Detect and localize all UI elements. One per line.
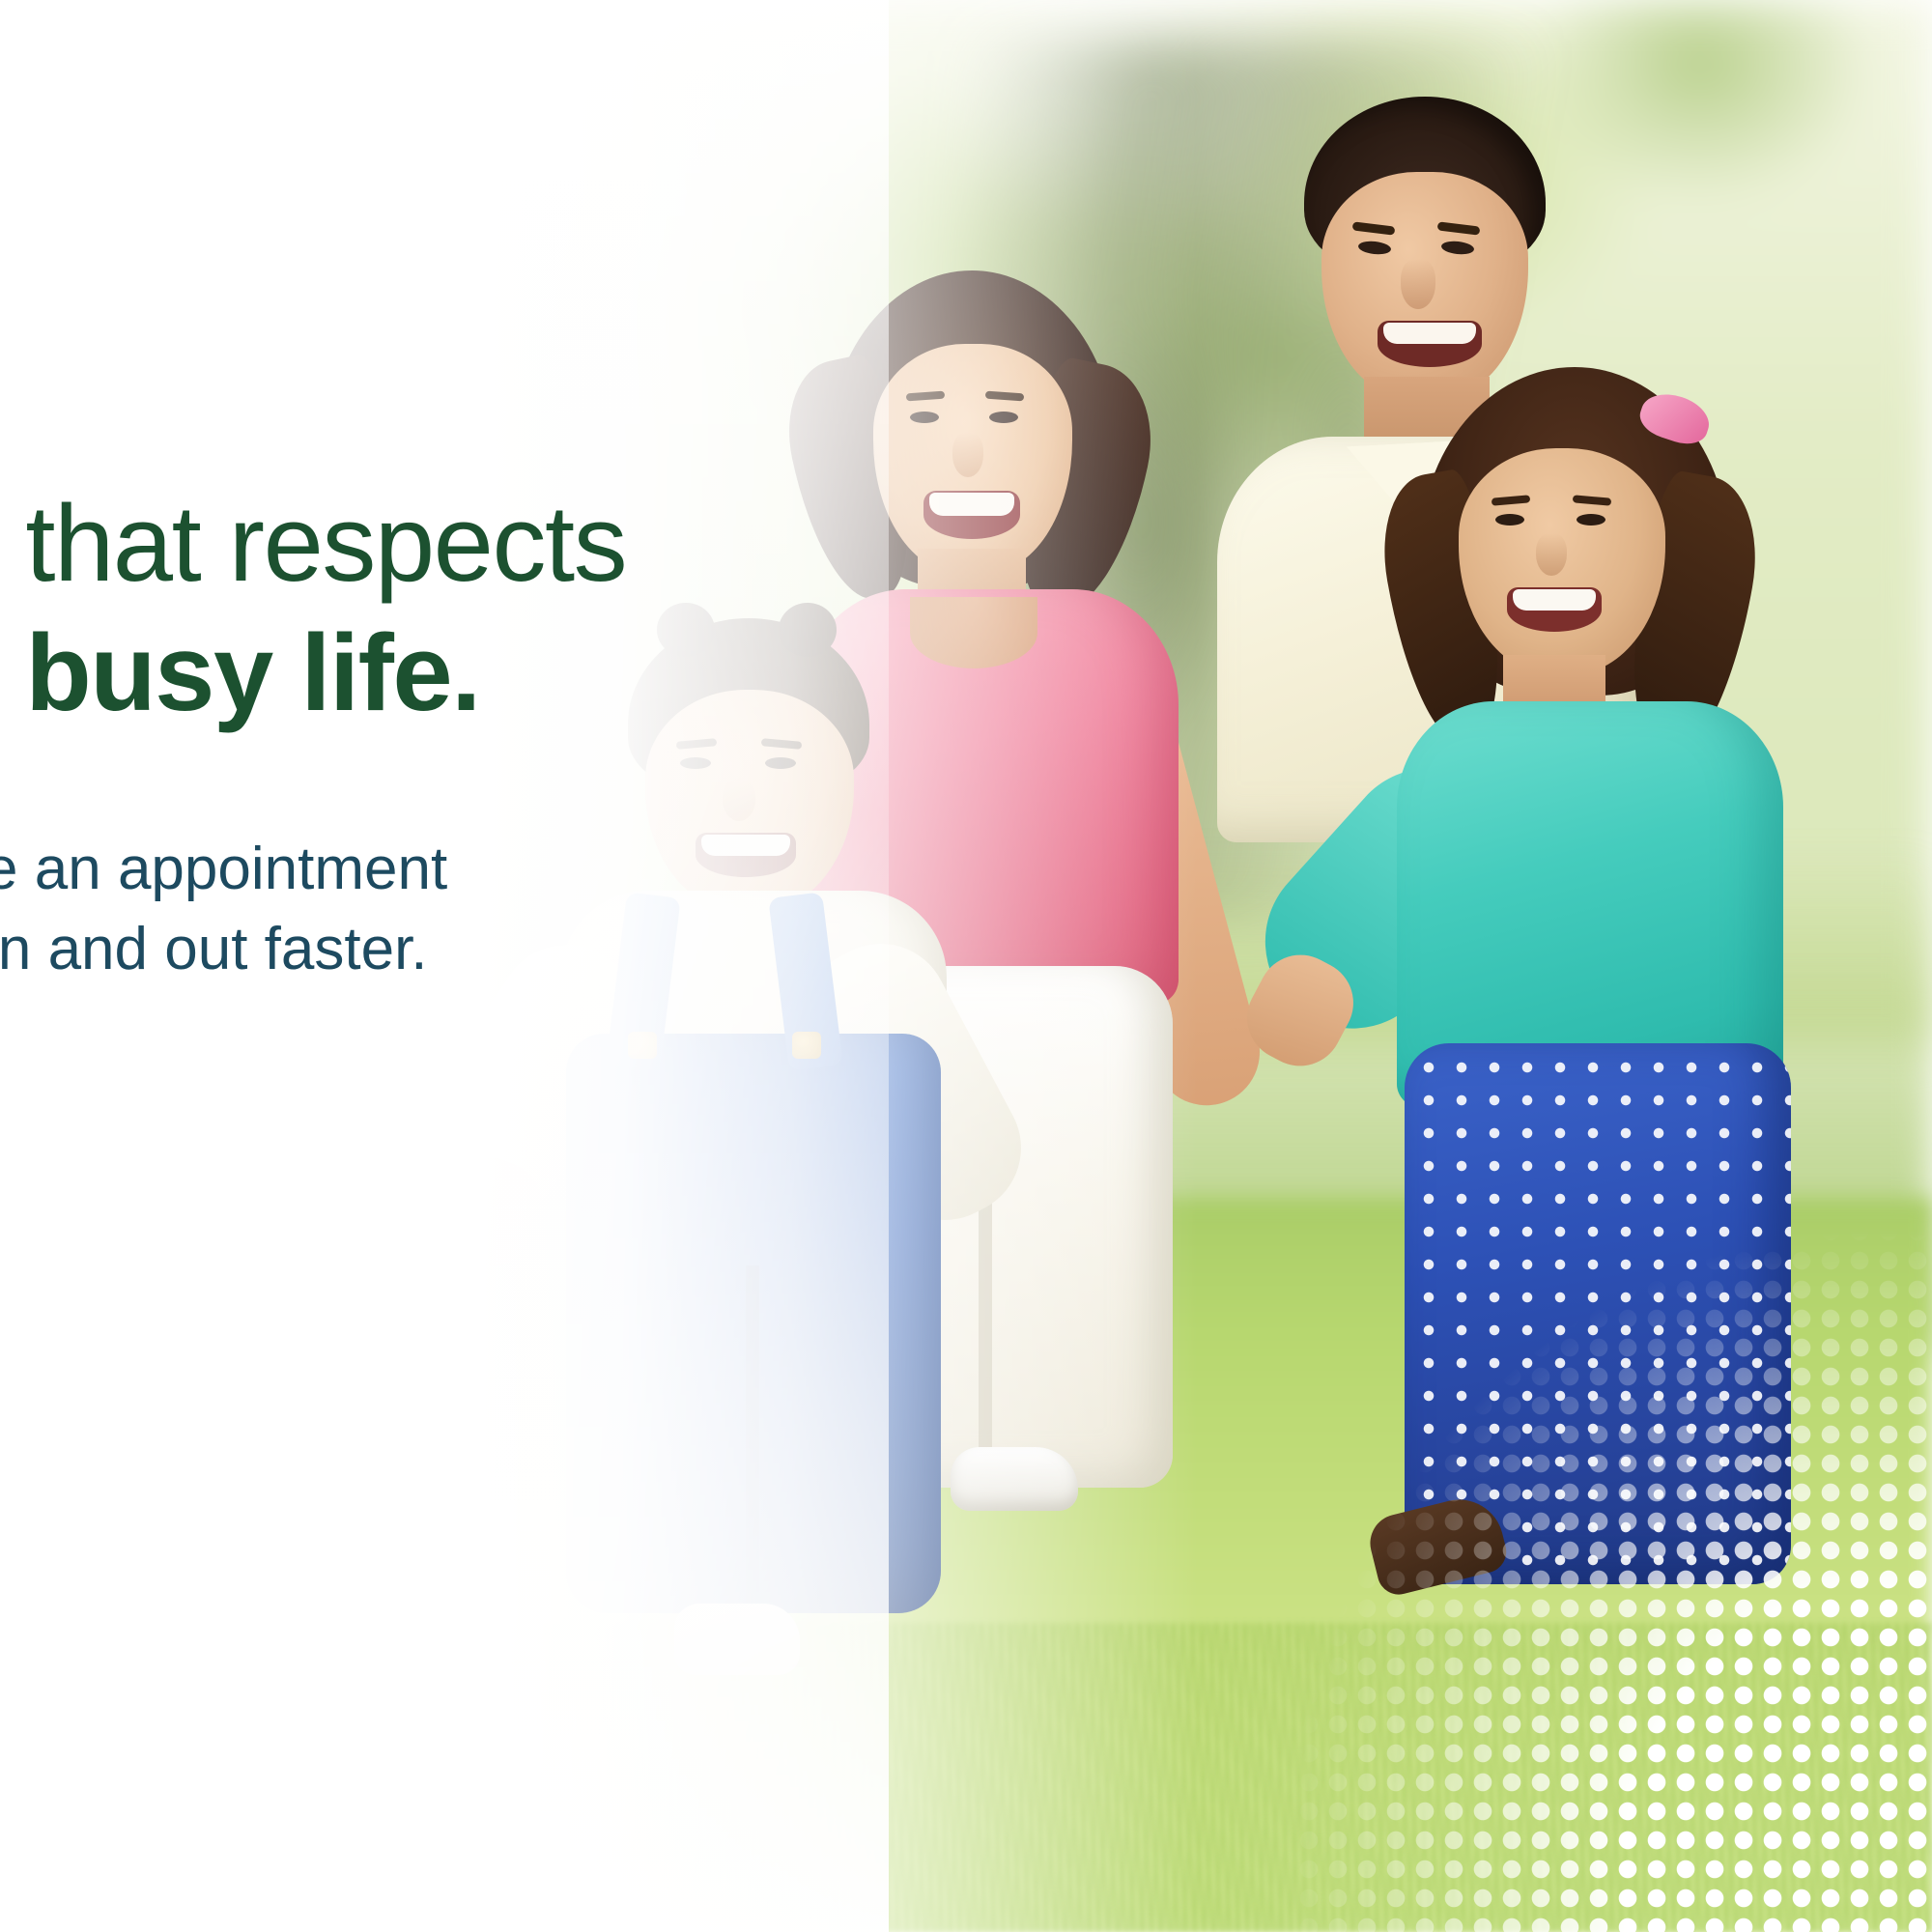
subcopy-block: Schedule an appointment and get in and o… bbox=[0, 829, 831, 989]
mother-eye-left bbox=[910, 412, 939, 423]
person-girl bbox=[1314, 367, 1913, 1623]
subcopy-line-2: and get in and out faster. bbox=[0, 909, 831, 989]
mother-nose bbox=[952, 433, 983, 477]
girl-mouth bbox=[1507, 587, 1602, 632]
father-nose bbox=[1401, 259, 1435, 309]
boy-denim-overalls bbox=[566, 1034, 941, 1613]
hero-banner: Care that respects your busy life. Sched… bbox=[0, 0, 1932, 1932]
girl-eye-right bbox=[1577, 514, 1605, 526]
boy-overall-buckle-right bbox=[792, 1032, 821, 1059]
boy-shoe bbox=[674, 1604, 800, 1675]
mother-eye-right bbox=[989, 412, 1018, 423]
subcopy-line-1: Schedule an appointment bbox=[0, 829, 831, 909]
mother-mouth bbox=[923, 491, 1020, 539]
girl-nose bbox=[1536, 533, 1567, 576]
headline-line-2: your busy life. bbox=[0, 611, 831, 736]
hero-copy-block: Care that respects your busy life. Sched… bbox=[0, 481, 831, 989]
boy-overall-buckle-left bbox=[628, 1032, 657, 1059]
girl-eye-left bbox=[1495, 514, 1524, 526]
father-mouth bbox=[1378, 321, 1482, 367]
headline-line-1: Care that respects bbox=[0, 481, 831, 607]
